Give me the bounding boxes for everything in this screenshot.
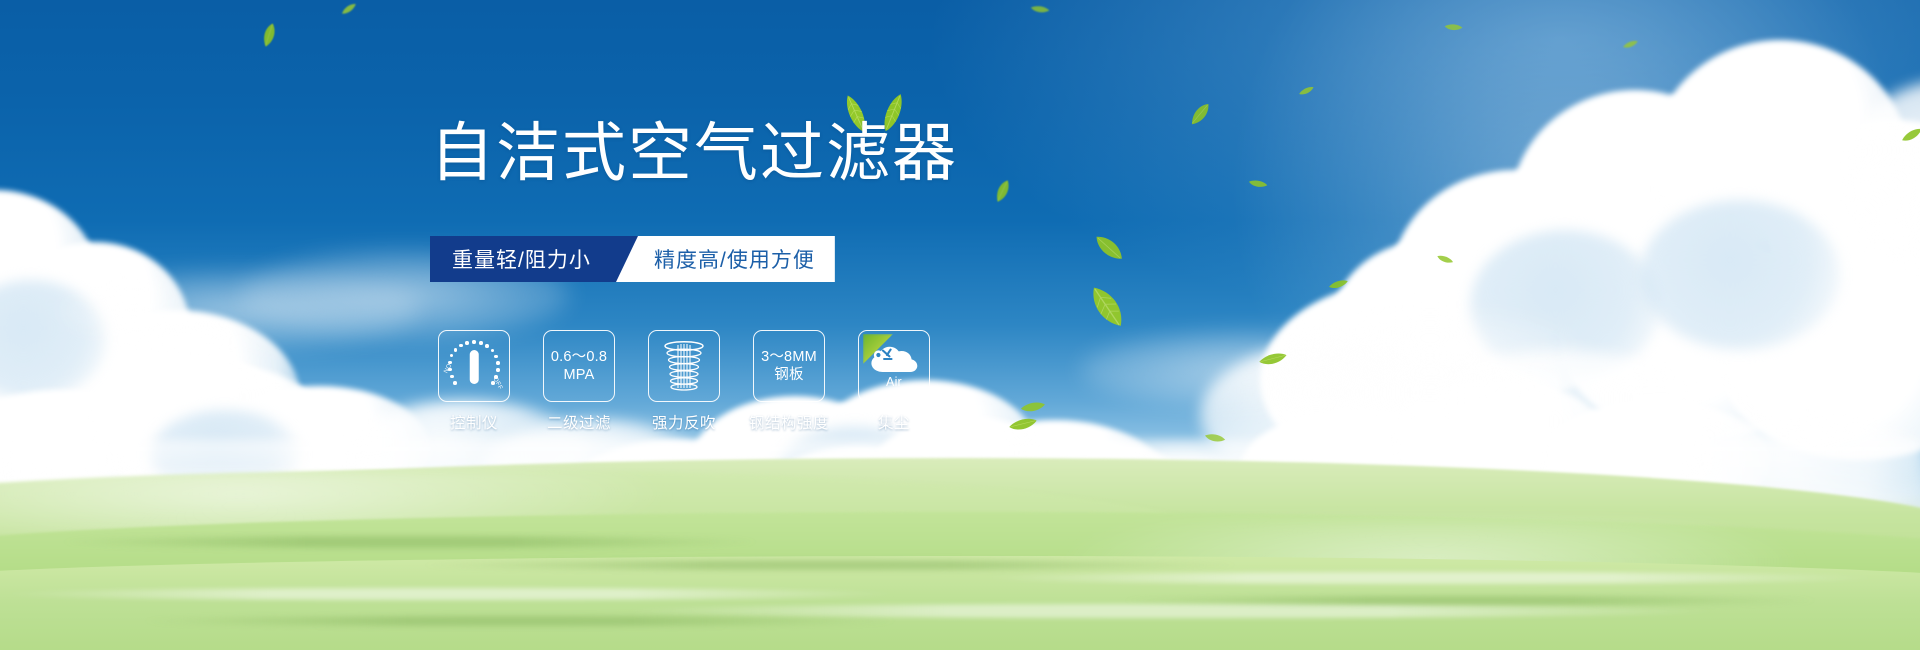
gauge-off-label: OFF: [492, 376, 505, 391]
filter-cartridge-icon: [662, 340, 706, 392]
feature-icon-box: 0.6～0.8 MPA: [543, 330, 615, 402]
air-cloud-icon: [868, 342, 920, 374]
subtitle-panel-right: 精度高/使用方便: [616, 236, 835, 282]
feature-icon-box: NO OFF: [438, 330, 510, 402]
feature-item-steel-strength[interactable]: 3～8MM 钢板 钢结构强度: [753, 330, 825, 433]
gauge-on-label: NO: [443, 362, 454, 374]
subtitle-panel-left: 重量轻/阻力小: [430, 236, 645, 282]
subtitle-left-text: 重量轻/阻力小: [452, 244, 591, 274]
feature-list: NO OFF 控制仪 0.6～0.8 MPA 二级过滤: [438, 330, 930, 433]
feature-icon-box: [648, 330, 720, 402]
hero-banner: 自洁式空气过滤器 重量轻/阻力小 精度高/使用方便: [0, 0, 1920, 650]
gauge-needle: [470, 350, 479, 384]
feature-label: 集尘: [878, 411, 910, 433]
feature-label: 控制仪: [450, 411, 498, 433]
feature-label: 二级过滤: [547, 411, 611, 433]
page-title: 自洁式空气过滤器: [430, 121, 958, 185]
feature-item-dust-collection[interactable]: Air 集尘: [858, 330, 930, 433]
steel-plate-value-icon: 3～8MM 钢板: [761, 348, 817, 384]
gauge-dial-icon: NO OFF: [442, 334, 506, 398]
subtitle-right-text: 精度高/使用方便: [654, 244, 815, 274]
feature-icon-box: Air: [858, 330, 930, 402]
pressure-value-icon: 0.6～0.8 MPA: [551, 348, 607, 384]
feature-item-strong-backblow[interactable]: 强力反吹: [648, 330, 720, 433]
feature-item-control-gauge[interactable]: NO OFF 控制仪: [438, 330, 510, 433]
feature-label: 钢结构强度: [749, 411, 829, 433]
feature-label: 强力反吹: [652, 411, 716, 433]
air-label: Air: [886, 375, 902, 391]
feature-item-two-stage-filter[interactable]: 0.6～0.8 MPA 二级过滤: [543, 330, 615, 433]
feature-icon-box: 3～8MM 钢板: [753, 330, 825, 402]
